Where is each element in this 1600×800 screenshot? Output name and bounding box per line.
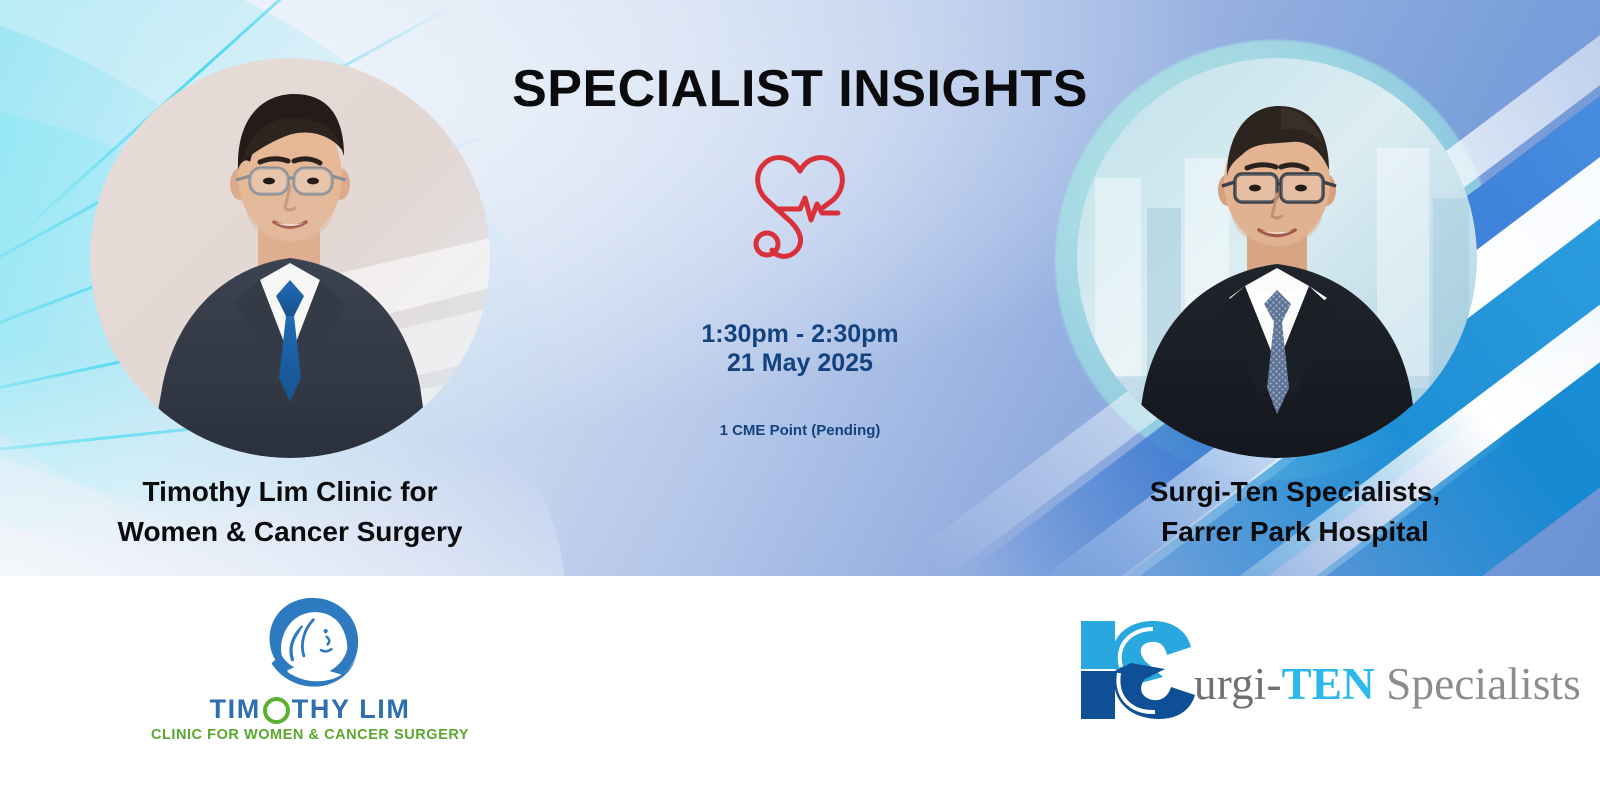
session-time: 1:30pm - 2:30pm bbox=[400, 320, 1200, 349]
caption-left-line-2: Women & Cancer Surgery bbox=[30, 512, 550, 552]
logo-name-part-2: THY LIM bbox=[292, 694, 411, 725]
logo-timothy-lim: TIMTHY LIM CLINIC FOR WOMEN & CANCER SUR… bbox=[155, 595, 465, 743]
heart-stethoscope-icon bbox=[747, 145, 853, 276]
wordmark-part-2: TEN bbox=[1282, 659, 1375, 709]
logo-surgi-ten: urgi-TEN Specialists bbox=[1075, 615, 1581, 725]
logo-timothy-lim-tagline: CLINIC FOR WOMEN & CANCER SURGERY bbox=[151, 727, 469, 743]
speaker-caption-right: Surgi-Ten Specialists, Farrer Park Hospi… bbox=[1035, 472, 1555, 552]
speaker-caption-left: Timothy Lim Clinic for Women & Cancer Su… bbox=[30, 472, 550, 552]
s-monogram-logo-mark-icon bbox=[1075, 615, 1200, 725]
hero-background: SPECIALIST INSIGHTS 1:30pm - 2:30pm bbox=[0, 0, 1600, 576]
caption-left-line-1: Timothy Lim Clinic for bbox=[30, 472, 550, 512]
caption-right-line-1: Surgi-Ten Specialists, bbox=[1035, 472, 1555, 512]
icon-container bbox=[400, 145, 1200, 276]
woman-face-logo-mark-icon bbox=[258, 595, 363, 690]
cme-points: 1 CME Point (Pending) bbox=[400, 422, 1200, 439]
wordmark-part-1: urgi- bbox=[1194, 659, 1282, 709]
logo-name-part-1: TIM bbox=[210, 694, 261, 725]
page-title: SPECIALIST INSIGHTS bbox=[400, 0, 1200, 117]
logo-surgi-ten-wordmark: urgi-TEN Specialists bbox=[1194, 658, 1581, 710]
event-banner: SPECIALIST INSIGHTS 1:30pm - 2:30pm bbox=[0, 0, 1600, 800]
session-date: 21 May 2025 bbox=[400, 349, 1200, 378]
logo-timothy-lim-name: TIMTHY LIM bbox=[210, 694, 411, 725]
caption-right-line-2: Farrer Park Hospital bbox=[1035, 512, 1555, 552]
leaf-o-icon bbox=[263, 697, 290, 724]
session-time-block: 1:30pm - 2:30pm 21 May 2025 bbox=[400, 320, 1200, 378]
wordmark-part-3: Specialists bbox=[1375, 659, 1581, 709]
